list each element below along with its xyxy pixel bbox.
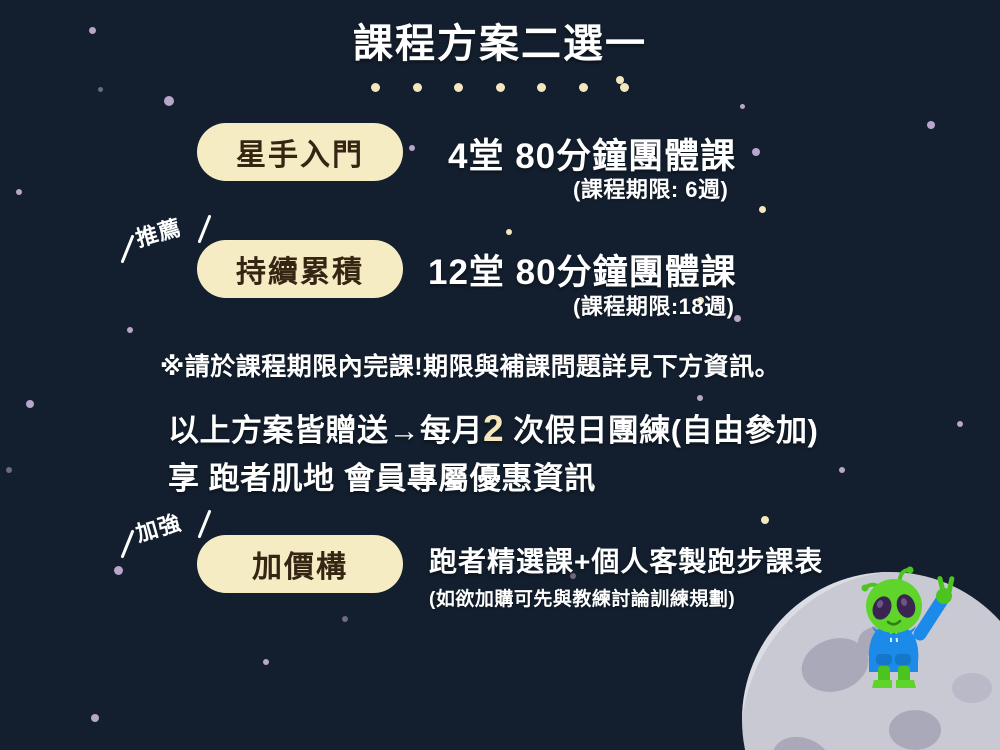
title-dot — [496, 83, 505, 92]
bonus-line-1-before: 以上方案皆贈送→每月 — [168, 413, 483, 448]
title-dot — [413, 83, 422, 92]
plan-sub-text-2: (課程期限:18週) — [573, 289, 734, 321]
alien-mascot — [852, 562, 972, 692]
star-dot — [409, 145, 415, 151]
star-dot — [127, 327, 133, 333]
star-dot — [752, 148, 760, 156]
bonus-highlight-number: 2 — [483, 408, 504, 449]
star-dot — [16, 189, 22, 195]
star-dot — [98, 87, 103, 92]
star-dot — [26, 400, 34, 408]
moon-illustration — [740, 570, 1000, 750]
star-dot — [164, 96, 174, 106]
badge-slash-right-icon — [197, 215, 211, 244]
star-dot — [342, 616, 348, 622]
star-dot — [959, 619, 965, 625]
plan-pill-2[interactable]: 持續累積 — [197, 240, 403, 298]
star-dot — [759, 206, 766, 213]
star-dot — [839, 467, 845, 473]
title-dot — [454, 83, 463, 92]
plan-pill-1[interactable]: 星手入門 — [197, 123, 403, 181]
star-dot — [740, 104, 745, 109]
star-dot — [263, 659, 269, 665]
addon-main-text: 跑者精選課+個人客製跑步課表 — [429, 540, 823, 580]
title-dot — [620, 83, 629, 92]
title-dot — [537, 83, 546, 92]
star-dot — [6, 467, 12, 473]
upgrade-badge-label: 加強 — [132, 505, 185, 548]
title-dot-divider — [371, 83, 629, 93]
star-dot — [927, 121, 935, 129]
deadline-note: ※請於課程期限內完課!期限與補課問題詳見下方資訊。 — [160, 347, 780, 383]
title-dot — [579, 83, 588, 92]
badge-slash-left-icon — [120, 235, 134, 264]
star-dot — [761, 516, 769, 524]
star-dot — [957, 421, 963, 427]
bonus-line-1: 以上方案皆贈送→每月2 次假日團練(自由參加) — [168, 405, 818, 450]
star-dot — [91, 714, 99, 722]
page-title: 課程方案二選一 — [0, 22, 1000, 66]
addon-pill[interactable]: 加價構 — [197, 535, 403, 593]
recommend-badge-label: 推薦 — [132, 210, 185, 253]
star-dot — [697, 395, 703, 401]
addon-sub-text: (如欲加購可先與教練討論訓練規劃) — [429, 584, 735, 611]
title-dot — [371, 83, 380, 92]
star-dot — [114, 566, 123, 575]
badge-slash-right-icon — [197, 510, 211, 539]
bonus-line-1-after: 次假日團練(自由參加) — [504, 413, 818, 448]
poster-canvas: 課程方案二選一 星手入門 4堂 80分鐘團體課 (課程期限: 6週) 推薦 持續… — [0, 0, 1000, 750]
plan-main-text-2: 12堂 80分鐘團體課 — [428, 244, 737, 295]
plan-sub-text-1: (課程期限: 6週) — [573, 172, 728, 204]
bonus-line-2: 享 跑者肌地 會員專屬優惠資訊 — [168, 453, 596, 498]
star-dot — [506, 229, 512, 235]
badge-slash-left-icon — [120, 530, 134, 559]
star-dot — [734, 315, 741, 322]
